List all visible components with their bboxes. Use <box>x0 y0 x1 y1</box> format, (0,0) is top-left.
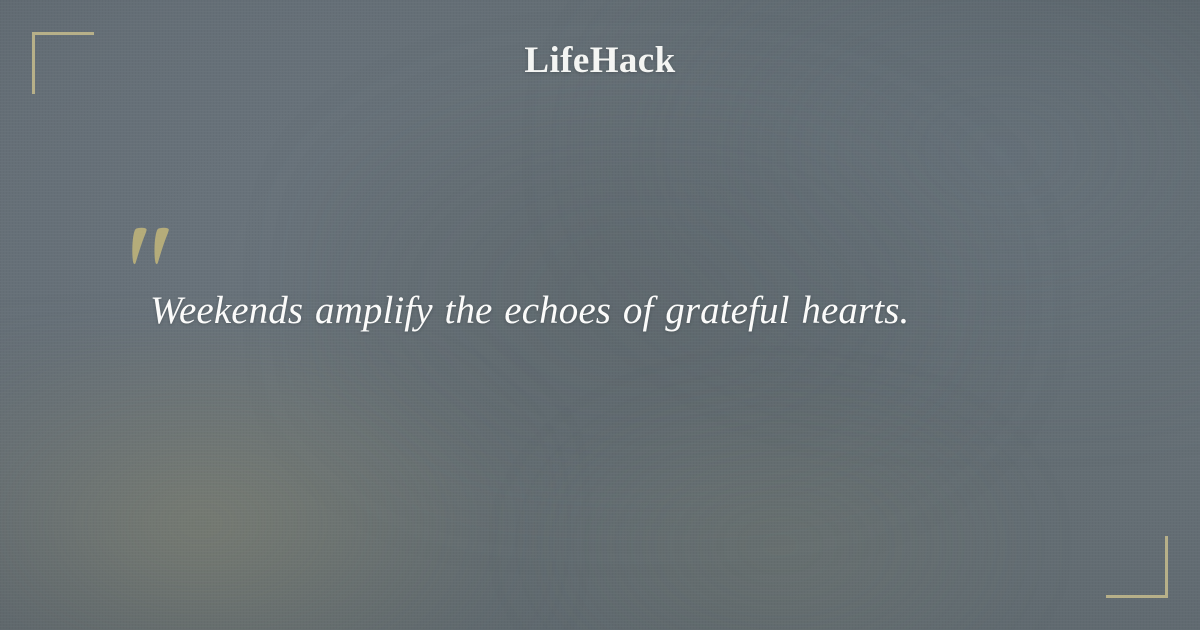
quote-container: Weekends amplify the echoes of grateful … <box>150 286 1050 336</box>
corner-bracket-bottom-right-vertical <box>1165 536 1168 598</box>
quote-card: LifeHack Weekends amplify the echoes of … <box>0 0 1200 630</box>
brand-header: LifeHack <box>0 42 1200 79</box>
quotation-mark-icon <box>131 226 177 270</box>
quote-text: Weekends amplify the echoes of grateful … <box>150 286 1050 336</box>
corner-bracket-bottom-right-horizontal <box>1106 595 1168 598</box>
brand-logo-text: LifeHack <box>524 42 675 79</box>
corner-bracket-bottom-right-icon <box>1106 536 1168 598</box>
corner-bracket-top-left-horizontal <box>32 32 94 35</box>
